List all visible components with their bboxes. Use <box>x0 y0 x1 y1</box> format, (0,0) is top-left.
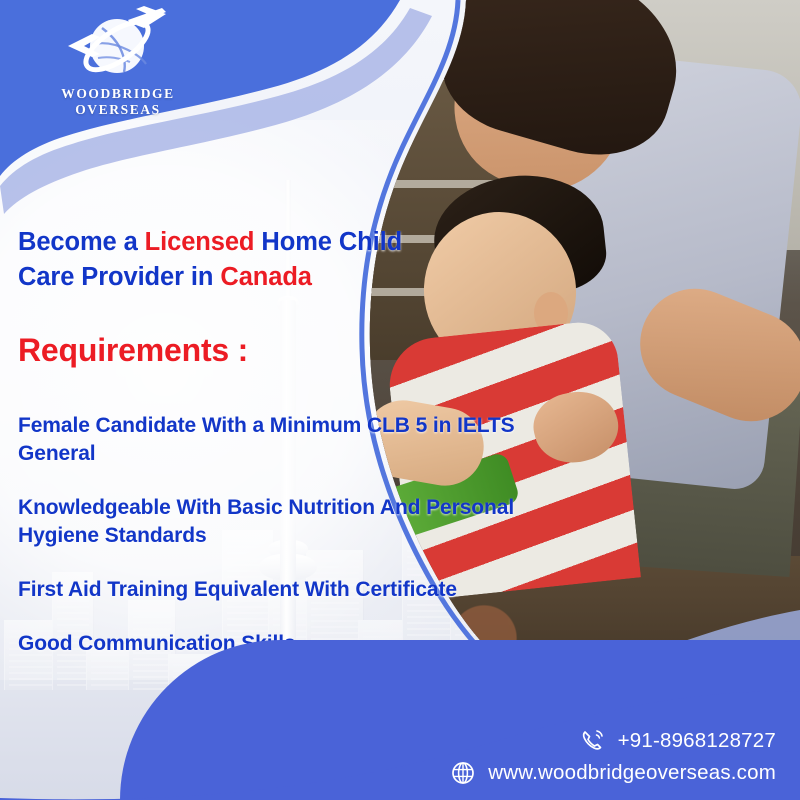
contact-block: +91-8968128727 www.woodbridgeoverseas.co… <box>450 722 776 786</box>
requirements-heading: Requirements : <box>18 332 248 369</box>
phone-ringing-icon <box>580 728 606 754</box>
headline-highlight-licensed: Licensed <box>145 228 255 256</box>
requirement-item: Female Candidate With a Minimum CLB 5 in… <box>18 412 528 468</box>
website-url: www.woodbridgeoverseas.com <box>488 761 776 785</box>
poster-canvas: WOODBRIDGE OVERSEAS Become a Licensed Ho… <box>0 0 800 800</box>
contact-phone-row[interactable]: +91-8968128727 <box>450 728 776 754</box>
globe-icon <box>450 760 476 786</box>
contact-website-row[interactable]: www.woodbridgeoverseas.com <box>450 760 776 786</box>
content-area: Become a Licensed Home Child Care Provid… <box>0 0 540 720</box>
phone-number: +91-8968128727 <box>618 729 776 753</box>
requirement-item: Knowledgeable With Basic Nutrition And P… <box>18 494 528 550</box>
page-title: Become a Licensed Home Child Care Provid… <box>18 225 448 295</box>
headline-line1-part1: Become a <box>18 228 145 256</box>
headline-line1-part2: Home Child <box>254 228 402 256</box>
headline-line2-part1: Care Provider in <box>18 263 220 291</box>
requirement-item: First Aid Training Equivalent With Certi… <box>18 576 528 604</box>
headline-highlight-canada: Canada <box>220 263 312 291</box>
